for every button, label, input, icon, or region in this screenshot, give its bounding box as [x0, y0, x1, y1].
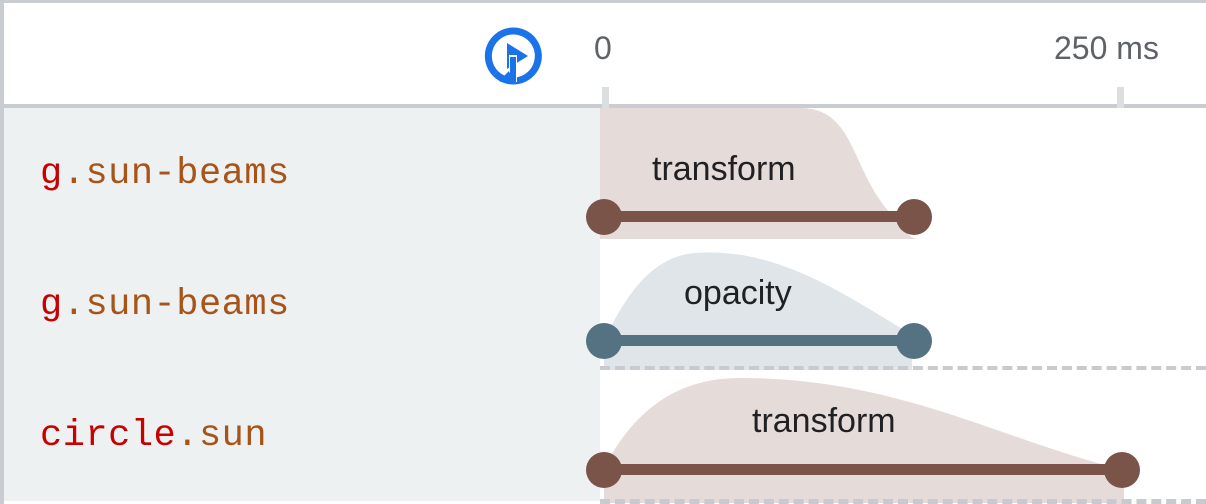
keyframe-bar[interactable] — [604, 335, 916, 346]
animation-row[interactable]: g.sun-beams opacity — [4, 239, 1206, 370]
keyframe-node-end[interactable] — [896, 323, 932, 359]
row-label-cell[interactable]: g.sun-beams — [4, 108, 600, 239]
selector-tag: circle — [40, 415, 176, 457]
replay-play-icon-glyph — [482, 25, 544, 87]
keyframe-node-end[interactable] — [896, 199, 932, 235]
animation-selector-label: g.sun-beams — [4, 284, 290, 326]
animation-track[interactable]: transform — [600, 108, 1206, 239]
selector-dot: . — [176, 415, 199, 457]
row-label-cell[interactable]: g.sun-beams — [4, 239, 600, 370]
selector-class: sun-beams — [85, 284, 289, 326]
timeline-header: 0 250 ms — [4, 3, 1206, 108]
animation-property-label: opacity — [684, 274, 792, 313]
ruler-label-start: 0 — [594, 28, 612, 68]
selector-tag: g — [40, 153, 63, 195]
animation-property-label: transform — [752, 402, 896, 441]
animation-row[interactable]: g.sun-beams transform — [4, 108, 1206, 239]
animation-rows: g.sun-beams transform g.sun-beams — [4, 108, 1206, 504]
ruler-label-end: 250 ms — [1054, 28, 1159, 68]
selector-tag: g — [40, 284, 63, 326]
row-dashed-divider — [600, 499, 1206, 504]
keyframe-bar[interactable] — [604, 464, 1124, 475]
keyframe-node-end[interactable] — [1104, 452, 1140, 488]
animation-property-label: transform — [652, 150, 796, 189]
animation-row[interactable]: circle.sun transform — [4, 370, 1206, 501]
selector-class: sun — [199, 415, 267, 457]
animation-track[interactable]: opacity — [600, 239, 1206, 370]
selector-class: sun-beams — [85, 153, 289, 195]
keyframe-bar[interactable] — [604, 211, 916, 222]
animation-track[interactable]: transform — [600, 370, 1206, 501]
animation-selector-label: g.sun-beams — [4, 153, 290, 195]
animation-group-1: g.sun-beams transform g.sun-beams — [4, 108, 1206, 370]
animation-selector-label: circle.sun — [4, 415, 267, 457]
keyframe-node-start[interactable] — [586, 452, 622, 488]
animations-timeline-panel: 0 250 ms g.sun-beams transform — [0, 0, 1206, 504]
row-label-cell[interactable]: circle.sun — [4, 370, 600, 501]
animation-group-2: circle.sun transform — [4, 370, 1206, 503]
replay-play-icon[interactable] — [482, 25, 544, 87]
keyframe-node-start[interactable] — [586, 323, 622, 359]
selector-dot: . — [63, 284, 86, 326]
selector-dot: . — [63, 153, 86, 195]
keyframe-node-start[interactable] — [586, 199, 622, 235]
